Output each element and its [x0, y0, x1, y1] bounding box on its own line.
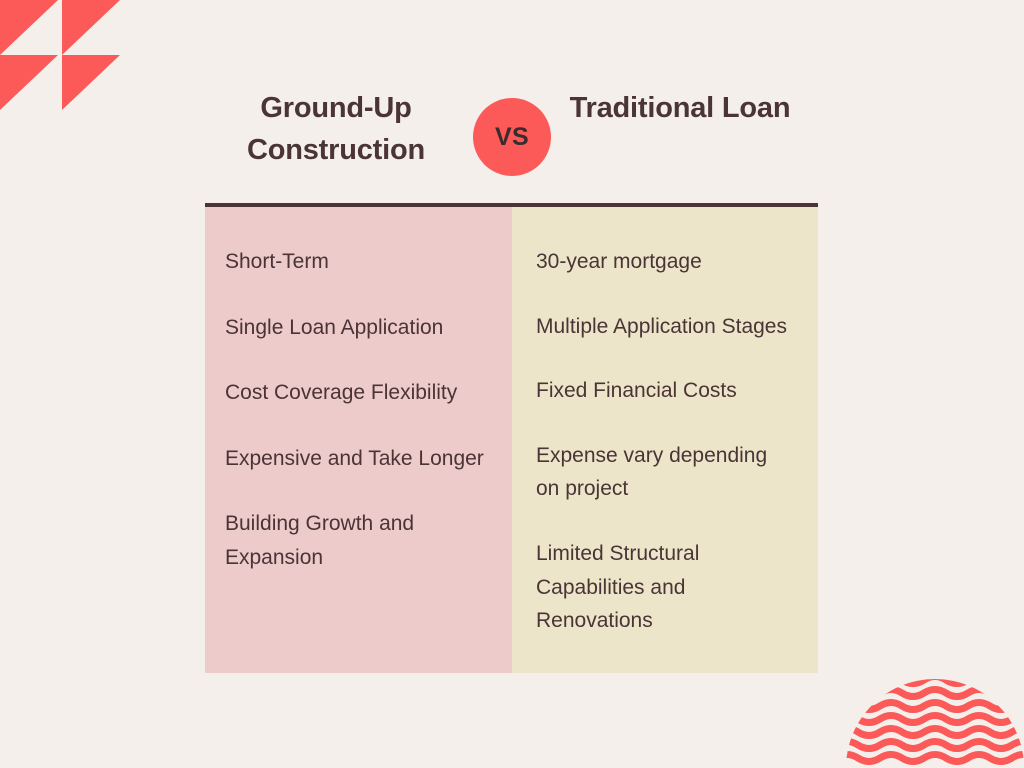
wavy-stripes-circle-decoration [846, 648, 1024, 768]
pinwheel-triangles-decoration [0, 0, 120, 110]
left-column-title: Ground-Up Construction [206, 88, 466, 172]
comparison-table: Short-Term Single Loan Application Cost … [205, 207, 818, 673]
list-item: Expensive and Take Longer [225, 442, 486, 476]
right-column-title: Traditional Loan [550, 88, 810, 130]
left-column-panel: Short-Term Single Loan Application Cost … [205, 207, 512, 673]
list-item: Fixed Financial Costs [536, 374, 788, 408]
list-item: Multiple Application Stages [536, 310, 788, 344]
list-item: Expense vary depending on project [536, 439, 788, 506]
list-item: Cost Coverage Flexibility [225, 376, 486, 410]
list-item: Short-Term [225, 245, 486, 279]
list-item: 30-year mortgage [536, 245, 788, 279]
list-item: Single Loan Application [225, 311, 486, 345]
right-column-panel: 30-year mortgage Multiple Application St… [512, 207, 818, 673]
list-item: Building Growth and Expansion [225, 507, 486, 574]
list-item: Limited Structural Capabilities and Reno… [536, 537, 788, 638]
comparison-header: Ground-Up Construction VS Traditional Lo… [180, 88, 840, 184]
infographic-canvas: Ground-Up Construction VS Traditional Lo… [0, 0, 1024, 768]
vs-badge: VS [473, 98, 551, 176]
